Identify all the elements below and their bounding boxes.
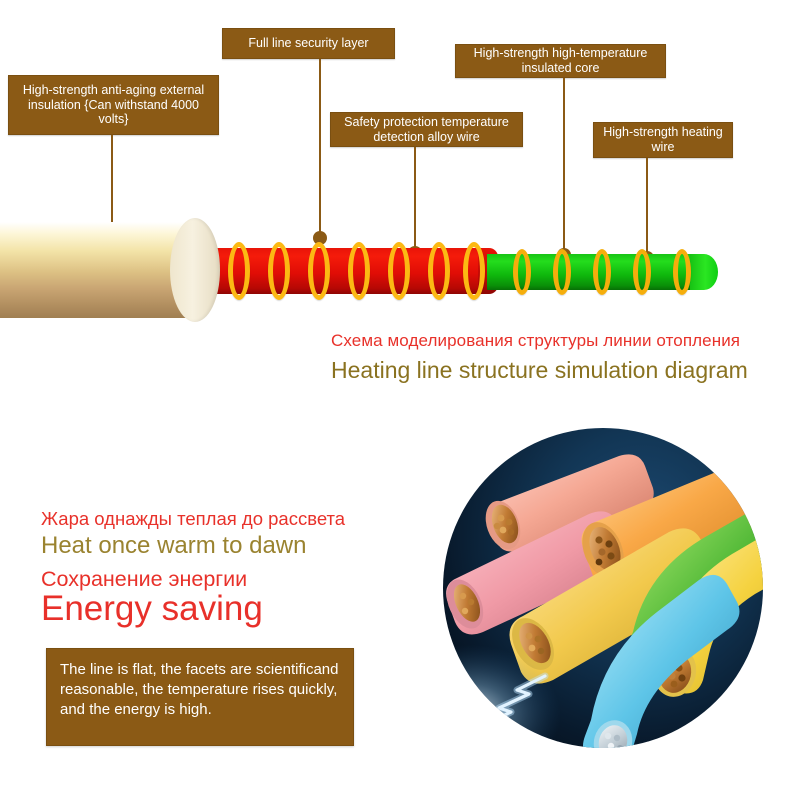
callout-security-layer-label: Full line security layer bbox=[248, 36, 368, 51]
coil-wire bbox=[513, 249, 531, 295]
coil-wire bbox=[308, 242, 330, 300]
cable-photo-illustration bbox=[443, 428, 763, 748]
diagram-caption-russian: Схема моделирования структуры линии отоп… bbox=[331, 331, 740, 351]
callout-external-insulation-label: High-strength anti-aging external insula… bbox=[17, 83, 210, 127]
coil-wire bbox=[228, 242, 250, 300]
callout-heating-wire: High-strength heating wire bbox=[593, 122, 733, 158]
coil-wire bbox=[268, 242, 290, 300]
callout-insulated-core: High-strength high-temperature insulated… bbox=[455, 44, 666, 78]
coil-wire bbox=[388, 242, 410, 300]
coil-wire bbox=[633, 249, 651, 295]
callout-heating-wire-label: High-strength heating wire bbox=[602, 125, 724, 155]
callout-detection-alloy-wire: Safety protection temperature detection … bbox=[330, 112, 523, 147]
slogan-energy-english: Energy saving bbox=[41, 589, 263, 629]
coil-wire bbox=[348, 242, 370, 300]
product-infographic-page: High-strength anti-aging external insula… bbox=[0, 0, 800, 800]
diagram-caption-english: Heating line structure simulation diagra… bbox=[331, 357, 748, 384]
outer-jacket-endcap bbox=[170, 218, 220, 322]
callout-insulated-core-label: High-strength high-temperature insulated… bbox=[464, 46, 657, 76]
insulated-core-tip bbox=[690, 254, 718, 290]
slogan-warm-english: Heat once warm to dawn bbox=[41, 532, 306, 560]
callout-security-layer: Full line security layer bbox=[222, 28, 395, 59]
slogan-warm-russian: Жара однажды теплая до рассвета bbox=[41, 508, 345, 530]
coil-wire bbox=[593, 249, 611, 295]
coil-wire bbox=[463, 242, 485, 300]
callout-detection-alloy-wire-label: Safety protection temperature detection … bbox=[339, 115, 514, 145]
product-description-box: The line is flat, the facets are scienti… bbox=[46, 648, 354, 746]
coil-wire bbox=[553, 249, 571, 295]
callout-external-insulation: High-strength anti-aging external insula… bbox=[8, 75, 219, 135]
product-description-text: The line is flat, the facets are scienti… bbox=[60, 661, 338, 718]
cable-cutaway-illustration bbox=[0, 200, 800, 335]
coil-wire bbox=[673, 249, 691, 295]
coil-wire bbox=[428, 242, 450, 300]
cable-photo-circle bbox=[443, 428, 763, 748]
